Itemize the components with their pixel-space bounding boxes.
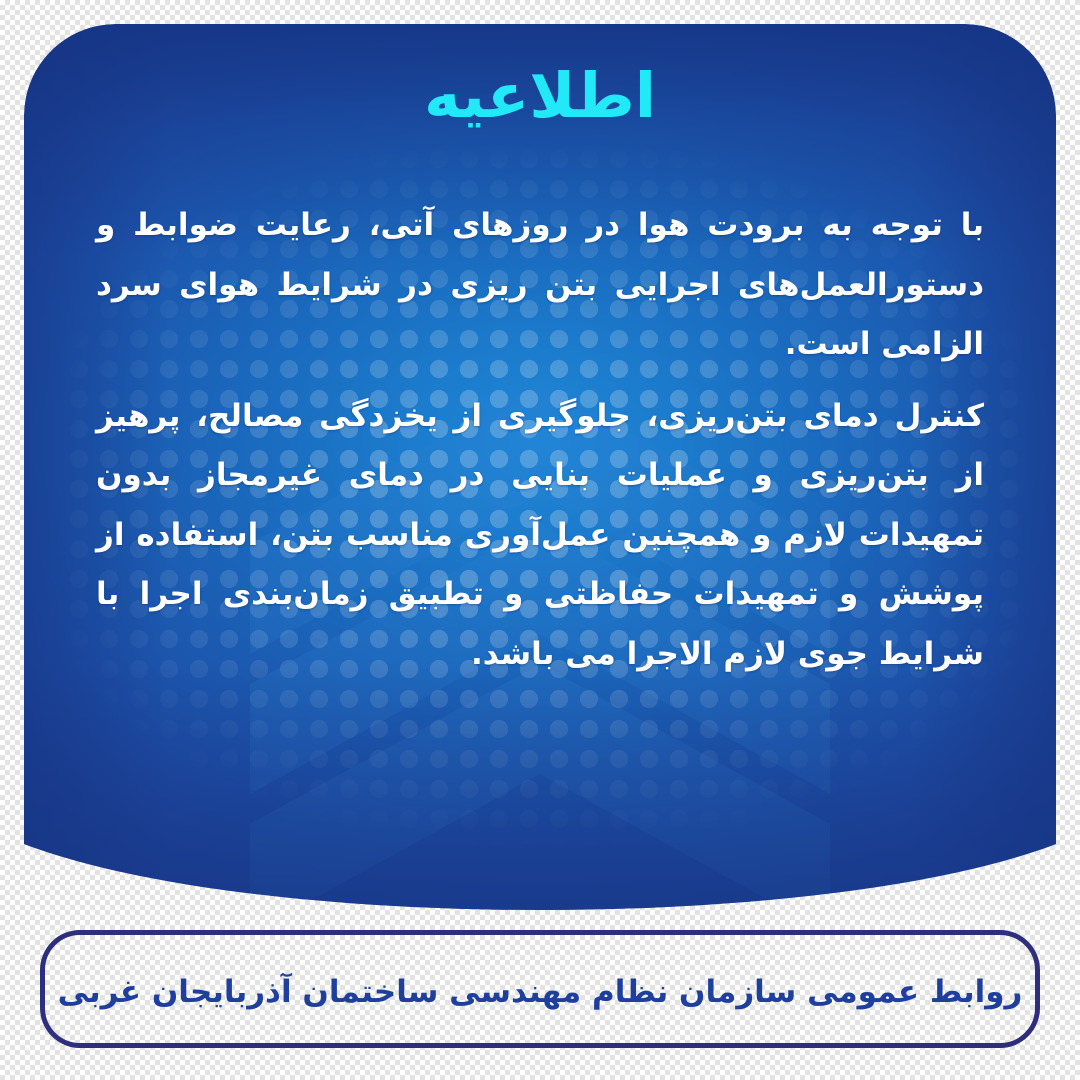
body-paragraph-1: با توجه به برودت هوا در روزهای آتی، رعای… [96,196,984,375]
telegram-plane-icon[interactable] [896,910,940,932]
footer-organization-text: روابط عمومی سازمان نظام مهندسی ساختمان آ… [58,974,1023,1010]
announcement-card: اطلاعیه با توجه به برودت هوا در روزهای آ… [24,24,1056,932]
card-content: اطلاعیه با توجه به برودت هوا در روزهای آ… [24,24,1056,932]
social-links-row: wanezamorg www.wa-Nezam [24,909,1056,932]
page-title: اطلاعیه [24,62,1056,130]
website-group[interactable]: www.wa-Nezam.org [140,909,523,932]
announcement-body: با توجه به برودت هوا در روزهای آتی، رعای… [96,196,984,684]
social-handle-group[interactable]: wanezamorg [618,910,940,932]
card-background: اطلاعیه با توجه به برودت هوا در روزهای آ… [24,24,1056,932]
globe-icon[interactable] [478,909,522,932]
instagram-camera-icon[interactable] [840,910,882,932]
footer-banner: روابط عمومی سازمان نظام مهندسی ساختمان آ… [40,930,1040,1048]
body-paragraph-2: کنترل دمای بتن‌ریزی، جلوگیری از یخزدگی م… [96,387,984,685]
